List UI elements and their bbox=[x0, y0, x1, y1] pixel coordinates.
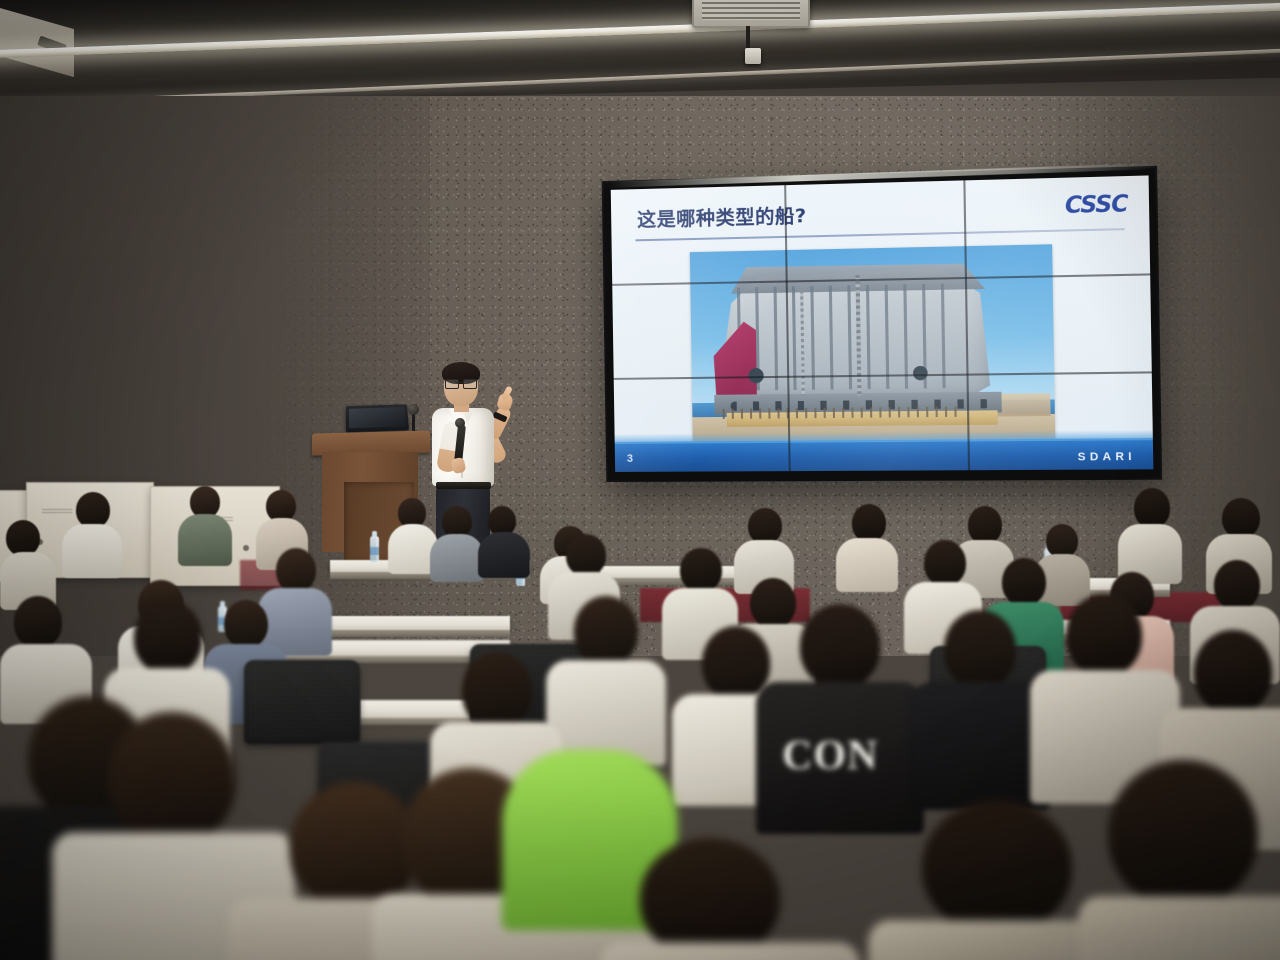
torso bbox=[910, 682, 1050, 810]
presentation-slide: 这是哪种类型的船? CSSC bbox=[611, 175, 1154, 472]
ceiling-sensor-stem bbox=[746, 26, 750, 48]
torso bbox=[836, 538, 898, 592]
head bbox=[1134, 488, 1170, 528]
head bbox=[680, 548, 722, 592]
head bbox=[6, 520, 40, 556]
cssc-logo: CSSC bbox=[1065, 192, 1128, 219]
yard-workers bbox=[723, 407, 960, 419]
torso bbox=[62, 524, 122, 578]
shirt-graphic-text: CON bbox=[782, 732, 878, 780]
head bbox=[566, 534, 606, 576]
torso bbox=[178, 514, 232, 566]
head bbox=[1194, 630, 1272, 714]
video-wall-display[interactable]: 这是哪种类型的船? CSSC bbox=[604, 168, 1160, 480]
sdari-wordmark: SDARI bbox=[1078, 451, 1136, 464]
air-conditioner-vent-icon bbox=[692, 0, 810, 28]
head bbox=[748, 508, 782, 544]
slide-page-number: 3 bbox=[627, 453, 633, 465]
head bbox=[108, 712, 236, 844]
head bbox=[944, 610, 1016, 688]
microphone-head-icon bbox=[455, 418, 465, 428]
slide-title: 这是哪种类型的船? bbox=[637, 201, 807, 232]
head bbox=[76, 492, 110, 528]
head bbox=[968, 506, 1002, 544]
slide-photo-ship-hull bbox=[690, 244, 1055, 443]
head bbox=[462, 652, 532, 728]
head bbox=[1222, 498, 1260, 538]
torso bbox=[478, 532, 530, 578]
audience-person bbox=[478, 506, 530, 578]
torso bbox=[430, 534, 484, 582]
ceiling-sensor-icon bbox=[745, 48, 761, 64]
hull-opening-right bbox=[913, 366, 928, 381]
head bbox=[640, 838, 780, 958]
audience-person bbox=[836, 504, 898, 592]
hull-opening-left bbox=[748, 368, 763, 383]
head bbox=[922, 800, 1072, 932]
head bbox=[276, 548, 316, 592]
slide-footer: 3 SDARI bbox=[615, 438, 1154, 472]
torso bbox=[1078, 896, 1280, 960]
audience-person bbox=[546, 596, 666, 766]
water-bottle-icon bbox=[370, 536, 379, 562]
head bbox=[574, 596, 638, 666]
head bbox=[800, 604, 880, 688]
audience-person bbox=[910, 610, 1050, 810]
head bbox=[1046, 524, 1078, 558]
audience-person-foreground bbox=[1078, 760, 1280, 960]
head bbox=[134, 600, 202, 674]
presenter-belt bbox=[436, 482, 491, 489]
audience-person bbox=[430, 506, 484, 582]
audience-person-foreground bbox=[600, 838, 860, 960]
display-screen: 这是哪种类型的船? CSSC bbox=[611, 175, 1154, 472]
head bbox=[852, 504, 886, 542]
head bbox=[1066, 594, 1142, 676]
lecture-hall-photo: 这是哪种类型的船? CSSC bbox=[0, 0, 1280, 960]
head bbox=[924, 540, 966, 586]
audience-person bbox=[178, 486, 232, 566]
head bbox=[1214, 560, 1260, 610]
head bbox=[224, 600, 268, 648]
audience-person bbox=[1118, 488, 1182, 584]
podium-monitor[interactable] bbox=[346, 404, 409, 432]
audience-person bbox=[62, 492, 122, 578]
torso bbox=[600, 942, 860, 960]
head bbox=[1108, 760, 1258, 906]
head bbox=[14, 596, 62, 648]
eyeglasses-icon bbox=[445, 379, 477, 387]
